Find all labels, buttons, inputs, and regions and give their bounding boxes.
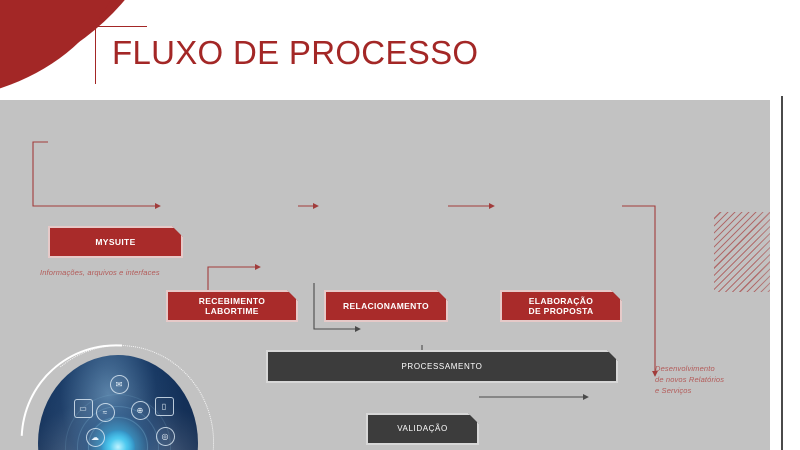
flow-node-elaboracao-de-proposta[interactable]: ELABORAÇÃO DE PROPOSTA: [500, 290, 622, 322]
flow-node-label: MYSUITE: [95, 237, 135, 247]
connector-elaboracao-to-cliente: [622, 206, 655, 376]
flow-node-label: VALIDAÇÃO: [397, 424, 448, 433]
annotation-informacoes-arquivos-interfaces: Informações, arquivos e interfaces: [40, 268, 160, 279]
slide-header: FLUXO DE PROCESSO: [0, 0, 800, 100]
flow-node-label: RECEBIMENTO LABORTIME: [199, 296, 266, 316]
flow-node-recebimento-labortime[interactable]: RECEBIMENTO LABORTIME: [166, 290, 298, 322]
page-title: FLUXO DE PROCESSO: [112, 34, 478, 72]
flow-node-processamento[interactable]: PROCESSAMENTO: [266, 350, 618, 383]
right-vertical-rule: [781, 96, 783, 450]
diagram-canvas: MYSUITE RECEBIMENTO LABORTIME RELACIONAM…: [0, 100, 770, 450]
slide-root: FLUXO DE PROCESSO: [0, 0, 800, 450]
flow-node-label: PROCESSAMENTO: [402, 362, 483, 371]
annotation-desenvolvimento-novos-relatorios: Desenvolvimento de novos Relatórios e Se…: [655, 364, 724, 397]
flow-node-mysuite[interactable]: MYSUITE: [48, 226, 183, 258]
technology-circle-image: ✉ ▭ ≈ ⊕ ▯ ☁ ◎ 🔒 🏛 📍 👤 💡 ∞ 🔍 🛒 📄: [18, 343, 218, 450]
flow-node-validacao[interactable]: VALIDAÇÃO: [366, 413, 479, 445]
flow-node-relacionamento[interactable]: RELACIONAMENTO: [324, 290, 448, 322]
flow-node-label: RELACIONAMENTO: [343, 301, 429, 311]
flow-node-label: ELABORAÇÃO DE PROPOSTA: [528, 296, 593, 316]
connector-mysuite-to-recebimento: [33, 142, 160, 206]
